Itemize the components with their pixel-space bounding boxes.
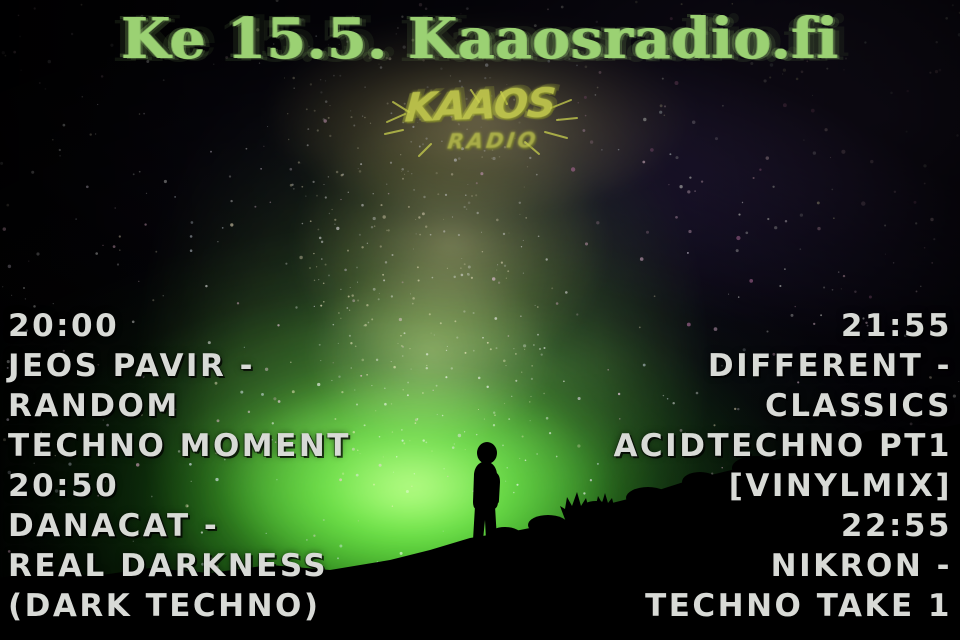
schedule-right-line-1: DIFFERENT - bbox=[613, 346, 952, 386]
schedule-left-line-5: DANACAT - bbox=[8, 506, 351, 546]
logo-kaaos-text: KAAOS bbox=[373, 82, 586, 129]
schedule-left-line-6: REAL DARKNESS bbox=[8, 546, 351, 586]
schedule-left-line-0: 20:00 bbox=[8, 306, 351, 346]
page-title: Ke 15.5. Kaaosradio.fi bbox=[0, 4, 960, 74]
schedule-left-line-4: 20:50 bbox=[8, 466, 351, 506]
schedule-left-line-3: TECHNO MOMENT bbox=[8, 426, 351, 466]
schedule-right-line-6: NIKRON - bbox=[613, 546, 952, 586]
header: Ke 15.5. Kaaosradio.fi bbox=[0, 4, 960, 84]
logo-radio-text: RADIO bbox=[399, 126, 587, 155]
person-legs bbox=[473, 506, 497, 546]
schedule-left-line-7: (DARK TECHNO) bbox=[8, 586, 351, 626]
schedule-left-line-2: RANDOM bbox=[8, 386, 351, 426]
schedule-right-line-0: 21:55 bbox=[613, 306, 952, 346]
schedule-right-line-7: TECHNO TAKE 1 bbox=[613, 586, 952, 626]
schedule-right-column: 21:55DIFFERENT -CLASSICSACIDTECHNO PT1[V… bbox=[613, 306, 952, 626]
schedule-right-line-3: ACIDTECHNO PT1 bbox=[613, 426, 952, 466]
schedule-left-column: 20:00JEOS PAVIR -RANDOMTECHNO MOMENT20:5… bbox=[8, 306, 351, 626]
schedule-right-line-4: [VINYLMIX] bbox=[613, 466, 952, 506]
schedule-right-line-5: 22:55 bbox=[613, 506, 952, 546]
kaaosradio-logo[interactable]: KAAOS RADIO bbox=[375, 86, 585, 172]
poster-root: Ke 15.5. Kaaosradio.fi KAAOS RADIO 20:00… bbox=[0, 0, 960, 640]
person-head bbox=[477, 442, 497, 464]
person-silhouette bbox=[460, 440, 520, 560]
schedule-right-line-2: CLASSICS bbox=[613, 386, 952, 426]
schedule-left-line-1: JEOS PAVIR - bbox=[8, 346, 351, 386]
